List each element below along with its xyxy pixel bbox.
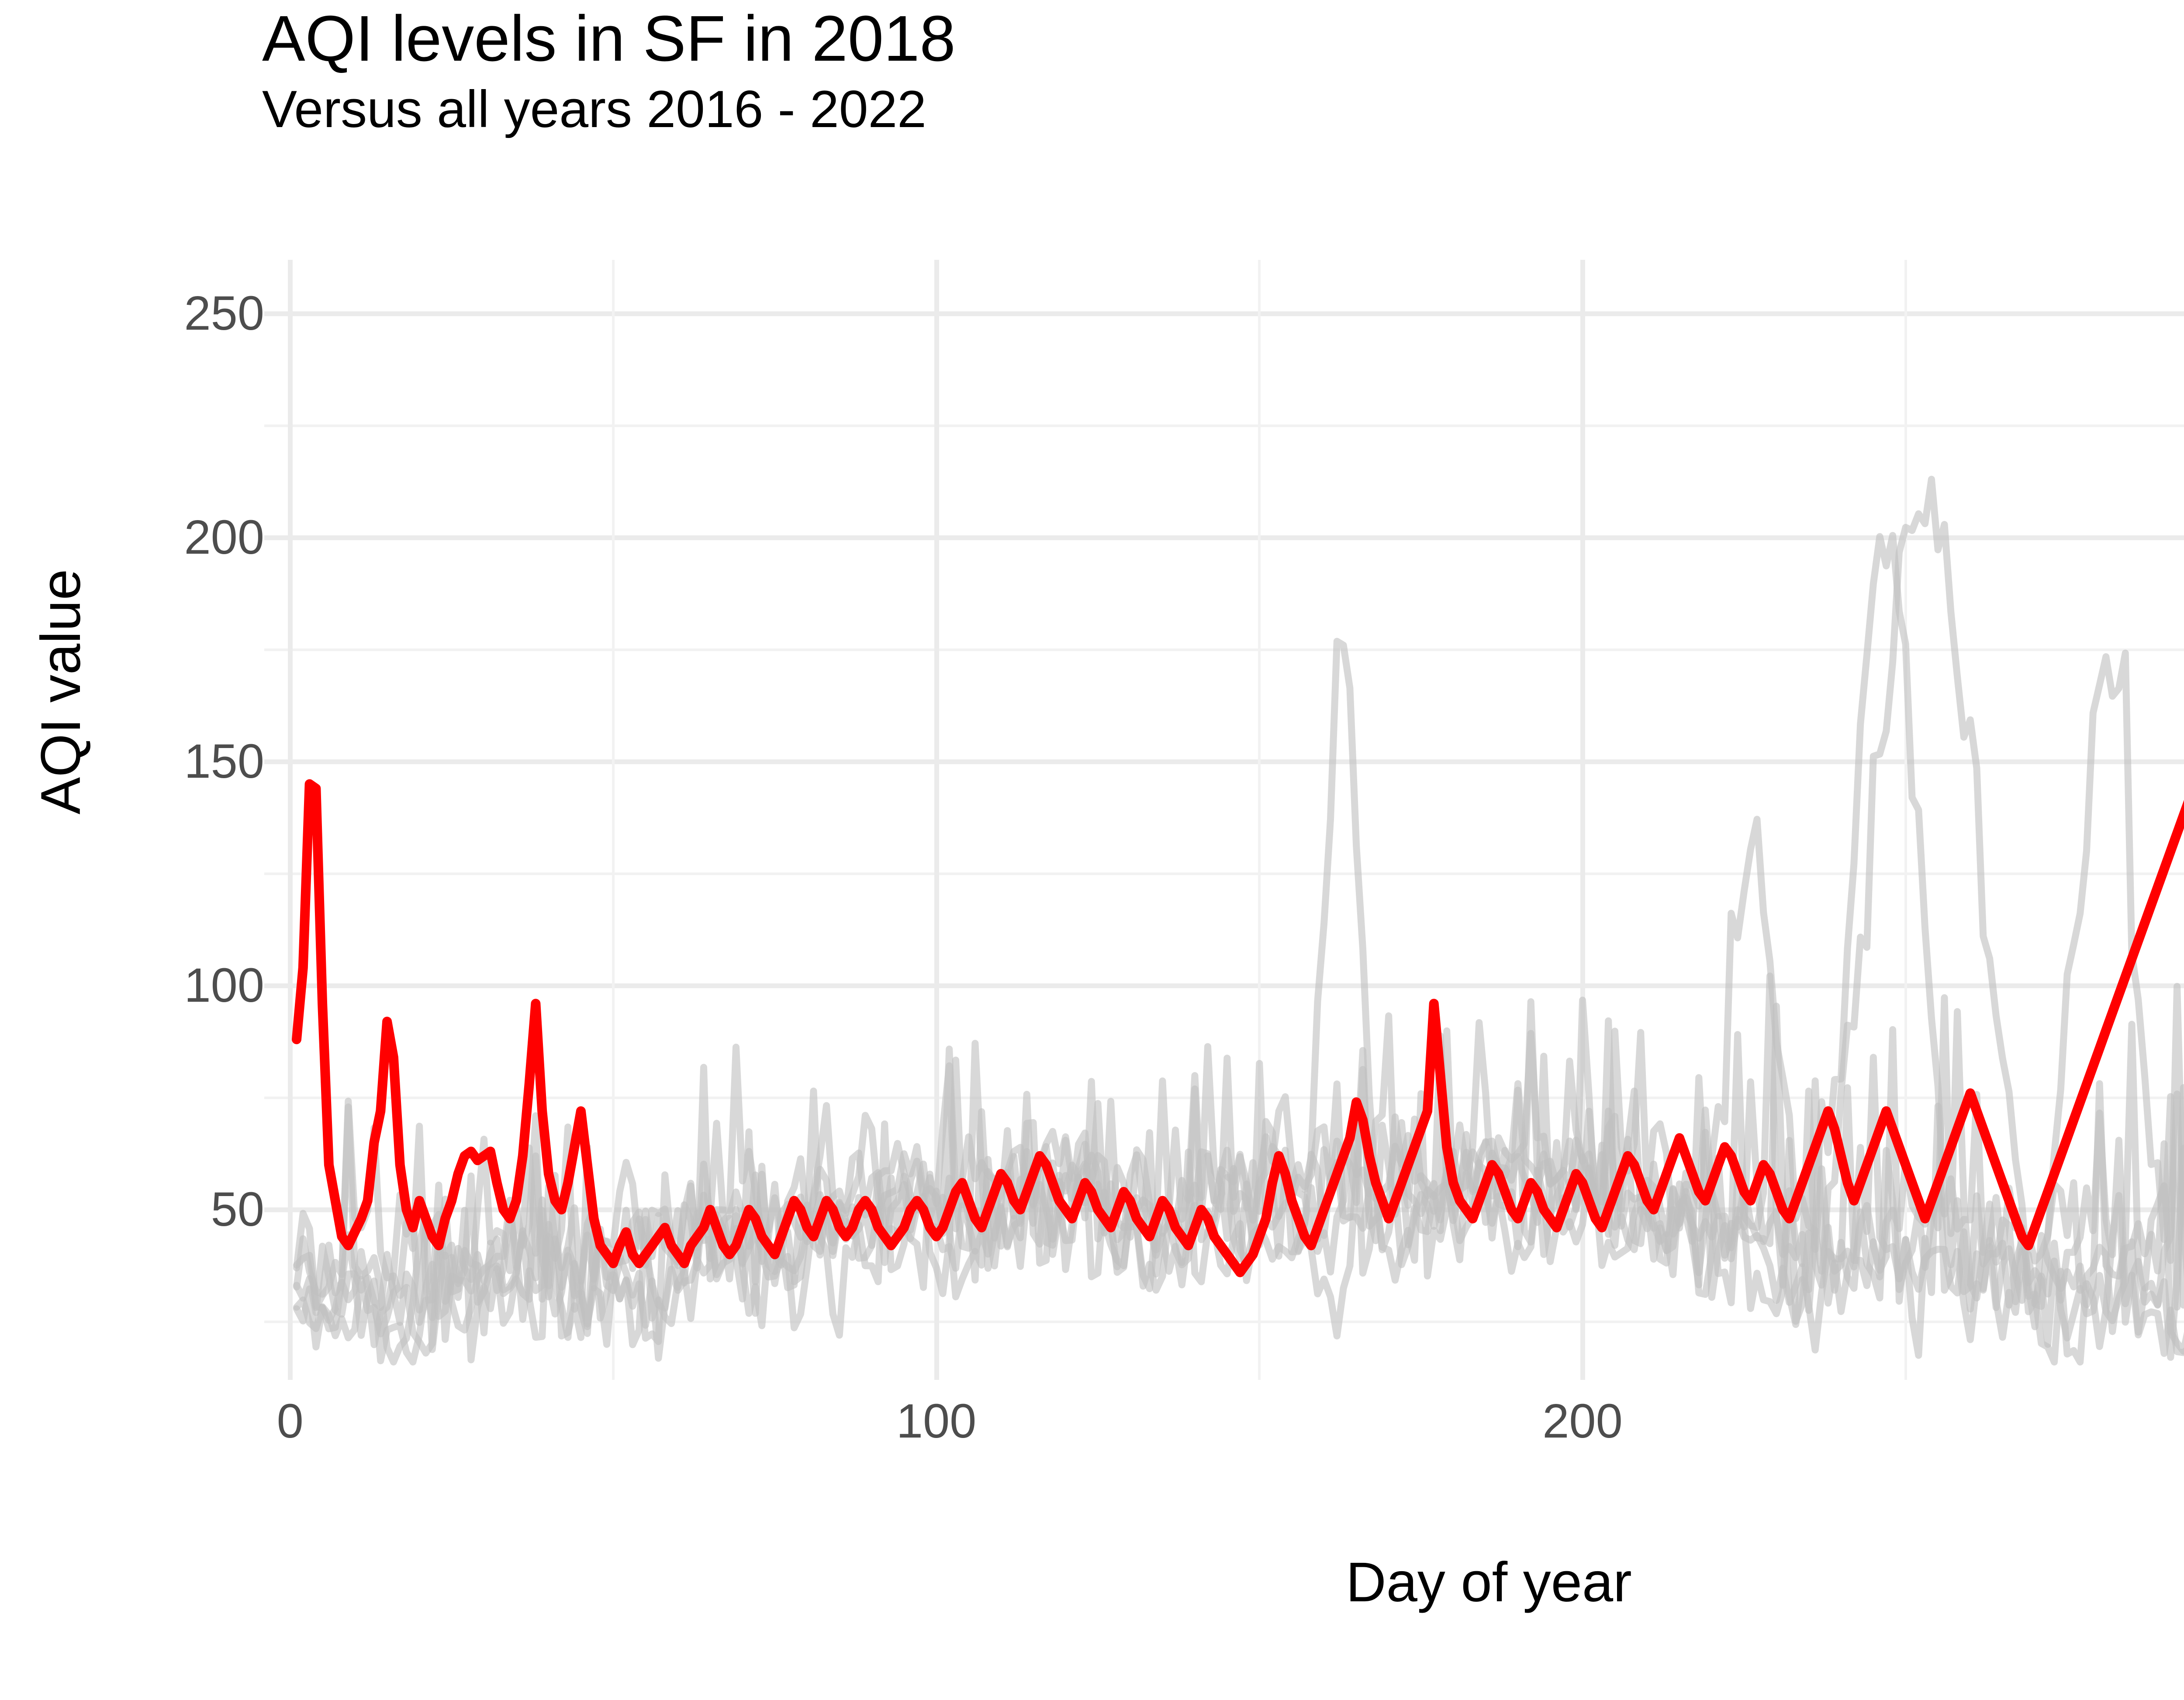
highlight-line-2018 — [297, 336, 2184, 1272]
y-tick-label: 100 — [0, 962, 264, 1010]
x-axis-title: Day of year — [264, 1555, 2184, 1610]
x-tick-label: 0 — [277, 1397, 304, 1445]
plot-panel — [264, 260, 2184, 1380]
x-tick-label: 200 — [1542, 1397, 1623, 1445]
chart-subtitle: Versus all years 2016 - 2022 — [262, 83, 926, 135]
y-tick-label: 200 — [0, 514, 264, 562]
y-tick-label: 150 — [0, 738, 264, 786]
plot-lines — [264, 260, 2184, 1380]
chart-root: AQI levels in SF in 2018 Versus all year… — [0, 0, 2184, 1700]
x-tick-label: 100 — [896, 1397, 977, 1445]
background-year-lines — [297, 479, 2184, 1362]
page-title: AQI levels in SF in 2018 — [262, 7, 956, 71]
y-tick-label: 250 — [0, 290, 264, 338]
y-tick-label: 50 — [0, 1186, 264, 1234]
highlight-year-line-2018 — [297, 336, 2184, 1272]
